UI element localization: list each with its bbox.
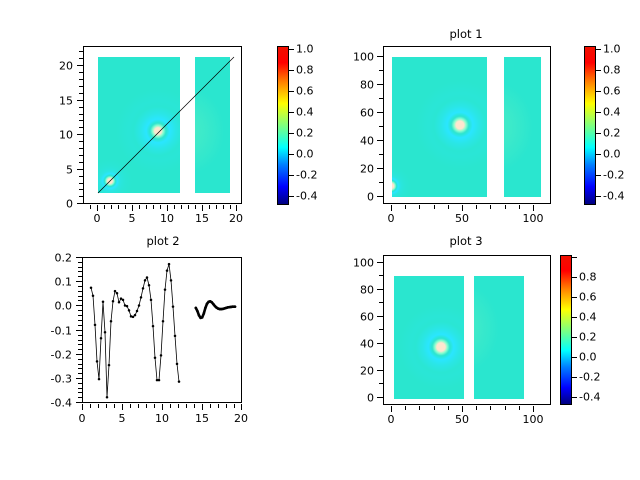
colorbar-label: 0.8	[603, 65, 621, 76]
ytick-label: 0.2	[42, 253, 72, 264]
colorbar-label: 0.4	[579, 312, 597, 323]
colorbar-label: 1.0	[296, 44, 314, 55]
ytick-label: 40	[342, 136, 374, 147]
ytick-label: 0	[53, 199, 73, 210]
colorbar-top-left	[277, 46, 289, 205]
colorbar-label: 0.2	[603, 128, 621, 139]
colorbar-label: -0.2	[296, 170, 317, 181]
xtick-label: 0	[388, 414, 395, 425]
colorbar-label: 0.0	[603, 149, 621, 160]
ytick-label: 80	[342, 285, 374, 296]
ytick-label: 60	[342, 312, 374, 323]
colorbar-label: 1.0	[603, 44, 621, 55]
ytick-label: 20	[53, 61, 73, 72]
axes-bottom-left	[82, 257, 242, 403]
ytick-label: 100	[342, 258, 374, 269]
xtick-label: 15	[195, 413, 209, 424]
plot-title-plot-3: plot 3	[449, 235, 482, 247]
xtick-label: 20	[229, 213, 243, 224]
subplot-top-right: plot 1 0 20 40 60 80 100	[320, 0, 640, 240]
diagonal-overlay-line	[84, 47, 242, 204]
plot-title-plot-2: plot 2	[146, 235, 179, 247]
ytick-label: 40	[342, 339, 374, 350]
ytick-label: 80	[342, 80, 374, 91]
colorbar-label: 0.6	[603, 86, 621, 97]
ytick-label: -0.2	[42, 350, 72, 361]
colorbar-label: 0.0	[296, 149, 314, 160]
ytick-label: 10	[53, 130, 73, 141]
subplot-bottom-left: plot 2	[0, 240, 320, 480]
subplot-top-left: 0 5 10 15 20	[0, 0, 320, 240]
xtick-label: 0	[79, 413, 86, 424]
colorbar-label: 0.0	[579, 352, 597, 363]
colorbar-label: -0.4	[603, 191, 624, 202]
xtick-label: 10	[155, 413, 169, 424]
xtick-label: 100	[523, 414, 544, 425]
colorbar-bottom-right	[560, 255, 572, 405]
colorbar-top-right	[584, 46, 596, 205]
colorbar-label: -0.4	[579, 392, 600, 403]
colorbar-label: 0.8	[296, 65, 314, 76]
ytick-label: 0.0	[42, 301, 72, 312]
xtick-label: 5	[119, 413, 126, 424]
heatmap-patch-left	[392, 57, 487, 197]
plot-title-plot-1: plot 1	[449, 28, 482, 40]
colorbar-label: 0.2	[296, 128, 314, 139]
ytick-label: 15	[53, 96, 73, 107]
axes-bottom-right	[383, 255, 551, 405]
ytick-label: 0	[342, 393, 374, 404]
xtick-label: 0	[94, 213, 101, 224]
subplot-bottom-right: plot 3 0 20 40 60 80 100	[320, 240, 640, 480]
ytick-label: -0.3	[42, 374, 72, 385]
ytick-label: 20	[342, 164, 374, 175]
ytick-label: 5	[53, 165, 73, 176]
heatmap-patch-right	[504, 57, 541, 197]
xtick-label: 10	[160, 213, 174, 224]
figure-canvas: 0 5 10 15 20	[0, 0, 640, 480]
colorbar-label: 0.6	[296, 86, 314, 97]
line-series-plot2	[83, 258, 242, 403]
colorbar-label: 0.8	[579, 272, 597, 283]
xtick-label: 50	[455, 213, 469, 224]
colorbar-label: 0.4	[603, 107, 621, 118]
axes-top-left	[83, 46, 242, 204]
ytick-label: -0.4	[42, 398, 72, 409]
xtick-label: 100	[523, 213, 544, 224]
xtick-label: 50	[455, 414, 469, 425]
ytick-label: 100	[342, 52, 374, 63]
colorbar-label: 0.6	[579, 292, 597, 303]
colorbar-label: 0.2	[579, 332, 597, 343]
heatmap-patch-right	[474, 276, 524, 399]
ytick-label: 0	[342, 192, 374, 203]
axes-top-right	[383, 46, 551, 204]
xtick-label: 0	[388, 213, 395, 224]
ytick-label: 0.1	[42, 277, 72, 288]
xtick-label: 20	[234, 413, 248, 424]
ytick-label: 60	[342, 108, 374, 119]
heatmap-patch-left	[394, 276, 464, 399]
ytick-label: -0.1	[42, 326, 72, 337]
xtick-label: 5	[129, 213, 136, 224]
colorbar-label: 0.4	[296, 107, 314, 118]
ytick-label: 20	[342, 366, 374, 377]
colorbar-label: -0.2	[603, 170, 624, 181]
xtick-label: 15	[195, 213, 209, 224]
colorbar-label: -0.2	[579, 372, 600, 383]
colorbar-label: -0.4	[296, 191, 317, 202]
